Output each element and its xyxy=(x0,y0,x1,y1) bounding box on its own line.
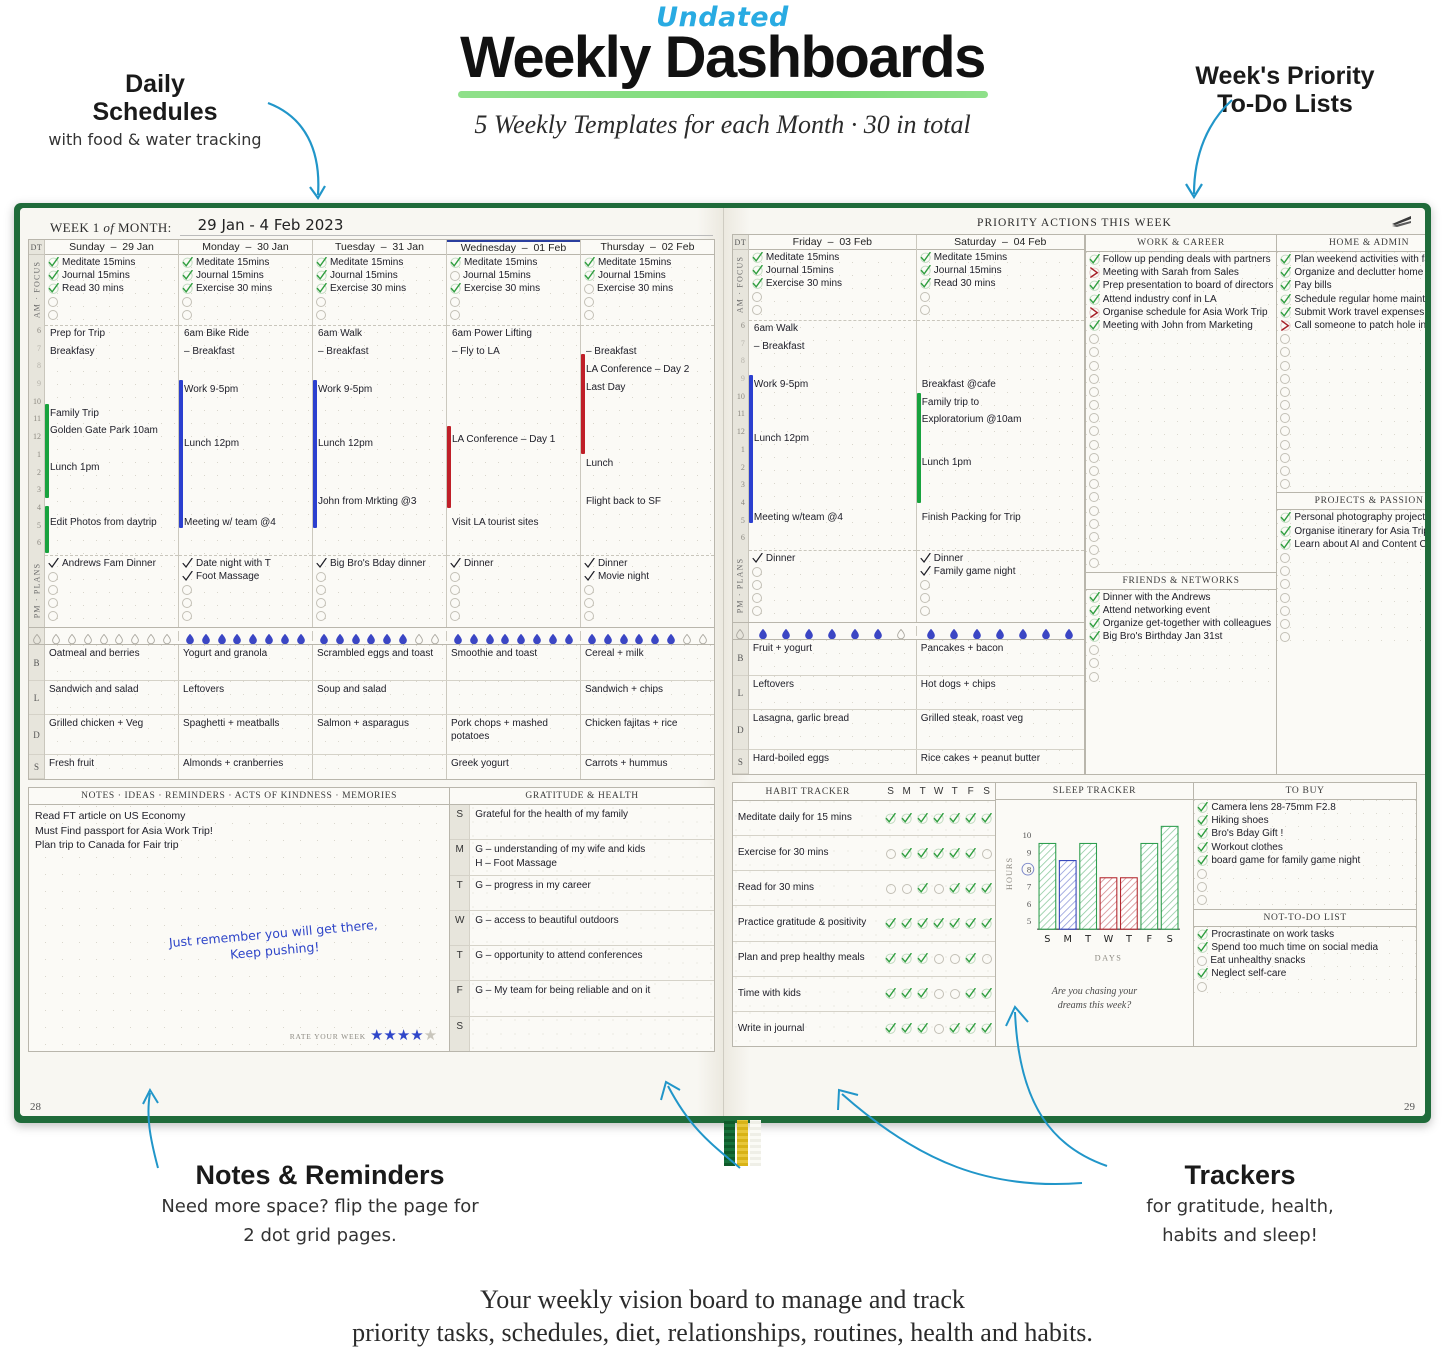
water-drop-icon[interactable] xyxy=(265,631,273,641)
checklist-item[interactable]: Plan weekend activities with family xyxy=(1280,254,1425,267)
habit-name[interactable]: Practice gratitude & positivity xyxy=(733,917,883,930)
empty-checkbox[interactable] xyxy=(1089,334,1099,344)
checklist-item[interactable]: Meeting with Sarah from Sales xyxy=(1089,267,1274,280)
meal-cell[interactable]: Fruit + yogurt xyxy=(749,640,917,675)
checkmark-icon[interactable] xyxy=(752,252,763,263)
checkmark-icon[interactable] xyxy=(450,283,461,294)
day-plan-zone[interactable]: 6am Bike Ride– BreakfastWork 9-5pmLunch … xyxy=(179,325,312,555)
water-drop-icon[interactable] xyxy=(352,631,360,641)
checkmark-icon[interactable] xyxy=(917,883,928,894)
checklist-item[interactable]: Organise schedule for Asia Work Trip xyxy=(1089,307,1274,320)
habit-mark[interactable] xyxy=(883,988,899,999)
note-line[interactable]: Must Find passport for Asia Work Trip! xyxy=(35,824,443,839)
checkmark-icon[interactable] xyxy=(917,918,928,929)
checkmark-icon[interactable] xyxy=(920,566,931,577)
checkmark-icon[interactable] xyxy=(182,270,193,281)
pm-task[interactable] xyxy=(920,605,1082,618)
gratitude-text[interactable]: G – access to beautiful outdoors xyxy=(470,911,714,945)
checkmark-icon[interactable] xyxy=(316,558,327,569)
checklist-item[interactable]: Personal photography project xyxy=(1280,512,1425,525)
focus-task[interactable] xyxy=(450,309,578,322)
habit-mark[interactable] xyxy=(915,953,931,964)
pm-task[interactable] xyxy=(584,584,712,597)
checkmark-icon[interactable] xyxy=(1280,512,1291,523)
focus-task[interactable] xyxy=(48,296,176,309)
checklist-item[interactable]: Dinner with the Andrews xyxy=(1089,592,1274,605)
empty-checkbox[interactable] xyxy=(1089,506,1099,516)
meal-cell[interactable]: Leftovers xyxy=(749,676,917,709)
empty-checkbox[interactable] xyxy=(1280,453,1290,463)
water-cell[interactable] xyxy=(45,631,179,641)
habit-mark[interactable] xyxy=(931,953,947,964)
habit-mark[interactable] xyxy=(979,848,995,859)
habit-mark[interactable] xyxy=(915,1023,931,1034)
pm-task[interactable] xyxy=(450,584,578,597)
meal-cell[interactable]: Scrambled eggs and toast xyxy=(313,645,447,680)
checklist-item[interactable]: Schedule regular home maintenance xyxy=(1280,294,1425,307)
habit-mark[interactable] xyxy=(899,918,915,929)
empty-checkbox[interactable] xyxy=(752,580,762,590)
habit-mark[interactable] xyxy=(963,848,979,859)
checklist-item[interactable]: Procrastinate on work tasks xyxy=(1197,929,1413,942)
checklist-item[interactable] xyxy=(1089,478,1274,491)
pm-task[interactable] xyxy=(316,571,444,584)
empty-checkbox[interactable] xyxy=(982,849,992,859)
checkmark-icon[interactable] xyxy=(752,278,763,289)
water-drop-icon[interactable] xyxy=(782,626,790,636)
focus-task[interactable] xyxy=(920,291,1082,304)
empty-checkbox[interactable] xyxy=(1197,982,1207,992)
water-drop-icon[interactable] xyxy=(874,626,882,636)
empty-checkbox[interactable] xyxy=(1280,426,1290,436)
habit-mark[interactable] xyxy=(899,848,915,859)
checkmark-icon[interactable] xyxy=(981,918,992,929)
checkmark-icon[interactable] xyxy=(1280,254,1291,265)
empty-checkbox[interactable] xyxy=(1089,545,1099,555)
forward-arrow-icon[interactable] xyxy=(1089,267,1100,278)
empty-checkbox[interactable] xyxy=(950,989,960,999)
checklist-item[interactable]: Call someone to patch hole in Roof xyxy=(1280,320,1425,333)
water-drop-icon[interactable] xyxy=(367,631,375,641)
focus-task[interactable]: Meditate 15mins xyxy=(752,252,914,265)
checkmark-icon[interactable] xyxy=(1089,320,1100,331)
habit-mark[interactable] xyxy=(915,988,931,999)
checkmark-icon[interactable] xyxy=(885,988,896,999)
empty-checkbox[interactable] xyxy=(886,884,896,894)
water-drop-icon[interactable] xyxy=(52,631,60,641)
water-drop-icon[interactable] xyxy=(667,631,675,641)
empty-checkbox[interactable] xyxy=(1280,606,1290,616)
focus-task[interactable]: Journal 15mins xyxy=(450,270,578,283)
checklist-item[interactable]: Eat unhealthy snacks xyxy=(1197,955,1413,968)
checkmark-icon[interactable] xyxy=(949,1023,960,1034)
empty-checkbox[interactable] xyxy=(48,297,58,307)
water-cell[interactable] xyxy=(581,631,714,641)
empty-checkbox[interactable] xyxy=(584,310,594,320)
meal-cell[interactable] xyxy=(313,755,447,779)
day-plan-zone[interactable]: – BreakfastLA Conference – Day 2Last Day… xyxy=(581,325,714,555)
focus-task[interactable]: Journal 15mins xyxy=(584,270,712,283)
water-drop-icon[interactable] xyxy=(759,626,767,636)
habit-mark[interactable] xyxy=(979,918,995,929)
checkmark-icon[interactable] xyxy=(48,558,59,569)
meal-cell[interactable]: Hard-boiled eggs xyxy=(749,750,917,774)
empty-checkbox[interactable] xyxy=(450,585,460,595)
empty-checkbox[interactable] xyxy=(1089,466,1099,476)
checkmark-icon[interactable] xyxy=(1089,280,1100,291)
empty-checkbox[interactable] xyxy=(1197,956,1207,966)
checkmark-icon[interactable] xyxy=(981,1023,992,1034)
checkmark-icon[interactable] xyxy=(1280,307,1291,318)
water-drop-icon[interactable] xyxy=(147,631,155,641)
empty-checkbox[interactable] xyxy=(316,572,326,582)
empty-checkbox[interactable] xyxy=(182,598,192,608)
checkmark-icon[interactable] xyxy=(917,988,928,999)
empty-checkbox[interactable] xyxy=(1280,440,1290,450)
pm-task[interactable] xyxy=(752,579,914,592)
habit-mark[interactable] xyxy=(979,1023,995,1034)
habit-mark[interactable] xyxy=(963,1023,979,1034)
gratitude-text[interactable]: G – opportunity to attend conferences xyxy=(470,946,714,980)
pm-task[interactable] xyxy=(450,597,578,610)
habit-mark[interactable] xyxy=(947,988,963,999)
focus-task[interactable]: Journal 15mins xyxy=(316,270,444,283)
pm-task[interactable] xyxy=(48,571,176,584)
water-cell[interactable] xyxy=(313,631,447,641)
bookmark-icon[interactable] xyxy=(1391,215,1413,230)
checklist-item[interactable] xyxy=(1089,439,1274,452)
checklist-item[interactable] xyxy=(1089,412,1274,425)
pm-task[interactable] xyxy=(584,597,712,610)
pm-task[interactable]: Dinner xyxy=(584,558,712,571)
water-drop-icon[interactable] xyxy=(927,626,935,636)
gratitude-row[interactable]: MG – understanding of my wife and kidsH … xyxy=(450,840,714,875)
gratitude-row[interactable]: TG – opportunity to attend conferences xyxy=(450,946,714,981)
checkmark-icon[interactable] xyxy=(965,953,976,964)
checklist-item[interactable]: Pay bills xyxy=(1280,280,1425,293)
focus-task[interactable]: Exercise 30 mins xyxy=(450,283,578,296)
checkmark-icon[interactable] xyxy=(1280,539,1291,550)
checkmark-icon[interactable] xyxy=(316,283,327,294)
empty-checkbox[interactable] xyxy=(182,611,192,621)
empty-checkbox[interactable] xyxy=(584,297,594,307)
gratitude-text[interactable]: G – progress in my career xyxy=(470,876,714,910)
water-drop-icon[interactable] xyxy=(1019,626,1027,636)
meal-cell[interactable]: Sandwich + chips xyxy=(581,681,714,714)
day-plan-zone[interactable]: 6am Power Lifting– Fly to LALA Conferenc… xyxy=(447,325,580,555)
empty-checkbox[interactable] xyxy=(934,1024,944,1034)
empty-checkbox[interactable] xyxy=(920,292,930,302)
checkmark-icon[interactable] xyxy=(949,848,960,859)
empty-checkbox[interactable] xyxy=(584,284,594,294)
day-plan-zone[interactable]: Prep for TripBreakfasyFamily TripGolden … xyxy=(45,325,178,555)
water-cell[interactable] xyxy=(447,631,581,641)
empty-checkbox[interactable] xyxy=(450,310,460,320)
checklist-item[interactable]: Neglect self-care xyxy=(1197,968,1413,981)
checkmark-icon[interactable] xyxy=(1197,842,1208,853)
focus-task[interactable] xyxy=(752,291,914,304)
water-drop-icon[interactable] xyxy=(249,631,257,641)
water-drop-icon[interactable] xyxy=(233,631,241,641)
water-drop-icon[interactable] xyxy=(336,631,344,641)
pm-task[interactable] xyxy=(316,610,444,623)
checkmark-icon[interactable] xyxy=(917,1023,928,1034)
empty-checkbox[interactable] xyxy=(316,310,326,320)
gratitude-row[interactable]: FG – My team for being reliable and on i… xyxy=(450,981,714,1016)
checkmark-icon[interactable] xyxy=(901,953,912,964)
habit-mark[interactable] xyxy=(915,883,931,894)
empty-checkbox[interactable] xyxy=(316,585,326,595)
checkmark-icon[interactable] xyxy=(316,257,327,268)
checkmark-icon[interactable] xyxy=(1197,855,1208,866)
checklist-item[interactable] xyxy=(1280,360,1425,373)
meal-cell[interactable]: Sandwich and salad xyxy=(45,681,179,714)
meal-cell[interactable]: Almonds + cranberries xyxy=(179,755,313,779)
habit-mark[interactable] xyxy=(899,1023,915,1034)
meal-cell[interactable]: Greek yogurt xyxy=(447,755,581,779)
focus-task[interactable]: Meditate 15mins xyxy=(182,257,310,270)
focus-task[interactable] xyxy=(450,296,578,309)
empty-checkbox[interactable] xyxy=(752,292,762,302)
habit-mark[interactable] xyxy=(899,953,915,964)
pm-task[interactable]: Family game night xyxy=(920,566,1082,579)
checkmark-icon[interactable] xyxy=(901,848,912,859)
checkmark-icon[interactable] xyxy=(752,265,763,276)
focus-task[interactable] xyxy=(182,296,310,309)
checkmark-icon[interactable] xyxy=(949,813,960,824)
checkmark-icon[interactable] xyxy=(965,883,976,894)
habit-mark[interactable] xyxy=(915,813,931,824)
checkmark-icon[interactable] xyxy=(1280,294,1291,305)
meal-cell[interactable]: Grilled chicken + Veg xyxy=(45,715,179,754)
checklist-item[interactable]: Organize and declutter home office xyxy=(1280,267,1425,280)
meal-cell[interactable]: Salmon + asparagus xyxy=(313,715,447,754)
checkmark-icon[interactable] xyxy=(901,1023,912,1034)
checklist-item[interactable] xyxy=(1280,425,1425,438)
water-drop-icon[interactable] xyxy=(281,631,289,641)
gratitude-row[interactable]: SGrateful for the health of my family xyxy=(450,805,714,840)
empty-checkbox[interactable] xyxy=(1280,466,1290,476)
checkmark-icon[interactable] xyxy=(584,257,595,268)
pm-task[interactable]: Date night with T xyxy=(182,558,310,571)
water-drop-icon[interactable] xyxy=(620,631,628,641)
focus-task[interactable]: Meditate 15mins xyxy=(48,257,176,270)
checkmark-icon[interactable] xyxy=(1089,631,1100,642)
empty-checkbox[interactable] xyxy=(182,310,192,320)
checkmark-icon[interactable] xyxy=(1197,828,1208,839)
meal-cell[interactable]: Fresh fruit xyxy=(45,755,179,779)
empty-checkbox[interactable] xyxy=(934,989,944,999)
rate-your-week[interactable]: RATE YOUR WEEK ★★★★★ xyxy=(290,1027,437,1045)
focus-task[interactable]: Journal 15mins xyxy=(182,270,310,283)
checkmark-icon[interactable] xyxy=(182,558,193,569)
checkmark-icon[interactable] xyxy=(48,283,59,294)
habit-name[interactable]: Meditate daily for 15 mins xyxy=(733,812,883,825)
checkmark-icon[interactable] xyxy=(933,813,944,824)
checklist-item[interactable] xyxy=(1089,644,1274,657)
checkmark-icon[interactable] xyxy=(1280,280,1291,291)
habit-mark[interactable] xyxy=(963,918,979,929)
water-drop-icon[interactable] xyxy=(533,631,541,641)
empty-checkbox[interactable] xyxy=(920,580,930,590)
checkmark-icon[interactable] xyxy=(917,848,928,859)
meal-cell[interactable]: Soup and salad xyxy=(313,681,447,714)
empty-checkbox[interactable] xyxy=(450,271,460,281)
checkmark-icon[interactable] xyxy=(1197,968,1208,979)
focus-task[interactable] xyxy=(316,309,444,322)
empty-checkbox[interactable] xyxy=(752,606,762,616)
checklist-item[interactable] xyxy=(1089,544,1274,557)
empty-checkbox[interactable] xyxy=(1280,579,1290,589)
empty-checkbox[interactable] xyxy=(1280,479,1290,489)
water-drop-icon[interactable] xyxy=(897,626,905,636)
pm-task[interactable] xyxy=(752,566,914,579)
empty-checkbox[interactable] xyxy=(982,954,992,964)
habit-name[interactable]: Read for 30 mins xyxy=(733,882,883,895)
pm-task[interactable] xyxy=(920,579,1082,592)
empty-checkbox[interactable] xyxy=(1089,658,1099,668)
checkmark-icon[interactable] xyxy=(920,553,931,564)
empty-checkbox[interactable] xyxy=(48,572,58,582)
empty-checkbox[interactable] xyxy=(1280,553,1290,563)
empty-checkbox[interactable] xyxy=(752,567,762,577)
focus-task[interactable]: Meditate 15mins xyxy=(584,257,712,270)
checklist-item[interactable] xyxy=(1089,386,1274,399)
empty-checkbox[interactable] xyxy=(316,598,326,608)
meal-cell[interactable]: Oatmeal and berries xyxy=(45,645,179,680)
habit-mark[interactable] xyxy=(963,813,979,824)
checklist-item[interactable]: Big Bro's Birthday Jan 31st xyxy=(1089,631,1274,644)
meal-cell[interactable]: Grilled steak, roast veg xyxy=(917,710,1084,749)
empty-checkbox[interactable] xyxy=(316,611,326,621)
checkmark-icon[interactable] xyxy=(1089,294,1100,305)
water-drop-icon[interactable] xyxy=(320,631,328,641)
gratitude-row[interactable]: WG – access to beautiful outdoors xyxy=(450,911,714,946)
checklist-item[interactable]: Learn about AI and Content Creation xyxy=(1280,539,1425,552)
water-drop-icon[interactable] xyxy=(115,631,123,641)
checklist-item[interactable]: Organize get-together with colleagues xyxy=(1089,618,1274,631)
checklist-item[interactable] xyxy=(1280,478,1425,491)
forward-arrow-icon[interactable] xyxy=(1089,307,1100,318)
checkmark-icon[interactable] xyxy=(48,270,59,281)
pm-task[interactable] xyxy=(48,597,176,610)
meal-cell[interactable]: Cereal + milk xyxy=(581,645,714,680)
empty-checkbox[interactable] xyxy=(1089,492,1099,502)
habit-mark[interactable] xyxy=(947,848,963,859)
habit-mark[interactable] xyxy=(883,918,899,929)
pm-task[interactable]: Big Bro's Bday dinner xyxy=(316,558,444,571)
checklist-item[interactable] xyxy=(1280,565,1425,578)
pm-task[interactable] xyxy=(450,571,578,584)
pm-task[interactable] xyxy=(752,605,914,618)
empty-checkbox[interactable] xyxy=(48,585,58,595)
checklist-item[interactable] xyxy=(1089,373,1274,386)
empty-checkbox[interactable] xyxy=(1089,519,1099,529)
meal-cell[interactable]: Hot dogs + chips xyxy=(917,676,1084,709)
checklist-item[interactable]: Camera lens 28-75mm F2.8 xyxy=(1197,802,1413,815)
empty-checkbox[interactable] xyxy=(1280,619,1290,629)
checklist-item[interactable] xyxy=(1280,631,1425,644)
empty-checkbox[interactable] xyxy=(450,572,460,582)
empty-checkbox[interactable] xyxy=(1089,426,1099,436)
star-icon[interactable]: ★ xyxy=(397,1027,410,1044)
checklist-item[interactable] xyxy=(1280,578,1425,591)
star-icon[interactable]: ★ xyxy=(410,1027,423,1044)
habit-mark[interactable] xyxy=(979,988,995,999)
water-drop-icon[interactable] xyxy=(415,631,423,641)
checklist-item[interactable]: Spend too much time on social media xyxy=(1197,942,1413,955)
water-drop-icon[interactable] xyxy=(131,631,139,641)
habit-mark[interactable] xyxy=(883,953,899,964)
habit-mark[interactable] xyxy=(979,883,995,894)
habit-mark[interactable] xyxy=(947,1023,963,1034)
rating-stars[interactable]: ★★★★★ xyxy=(370,1027,437,1045)
checklist-item[interactable] xyxy=(1280,439,1425,452)
checkmark-icon[interactable] xyxy=(917,813,928,824)
meal-cell[interactable]: Carrots + hummus xyxy=(581,755,714,779)
habit-mark[interactable] xyxy=(883,813,899,824)
habit-mark[interactable] xyxy=(899,813,915,824)
habit-mark[interactable] xyxy=(963,988,979,999)
checklist-item[interactable] xyxy=(1089,518,1274,531)
empty-checkbox[interactable] xyxy=(1089,672,1099,682)
water-drop-icon[interactable] xyxy=(973,626,981,636)
pm-task[interactable] xyxy=(182,584,310,597)
water-cell[interactable] xyxy=(179,631,313,641)
habit-mark[interactable] xyxy=(931,813,947,824)
water-drop-icon[interactable] xyxy=(501,631,509,641)
checklist-item[interactable] xyxy=(1089,465,1274,478)
checklist-item[interactable] xyxy=(1089,531,1274,544)
water-drop-icon[interactable] xyxy=(84,631,92,641)
checkmark-icon[interactable] xyxy=(450,558,461,569)
water-drop-icon[interactable] xyxy=(565,631,573,641)
focus-task[interactable]: Read 30 mins xyxy=(48,283,176,296)
star-icon[interactable]: ★ xyxy=(383,1027,396,1044)
checkmark-icon[interactable] xyxy=(917,953,928,964)
water-drop-icon[interactable] xyxy=(517,631,525,641)
checkmark-icon[interactable] xyxy=(920,265,931,276)
empty-checkbox[interactable] xyxy=(1280,374,1290,384)
checkmark-icon[interactable] xyxy=(933,918,944,929)
focus-task[interactable]: Meditate 15mins xyxy=(316,257,444,270)
star-icon[interactable]: ★ xyxy=(370,1027,383,1044)
empty-checkbox[interactable] xyxy=(1089,400,1099,410)
checklist-item[interactable]: Organise itinerary for Asia Trip xyxy=(1280,526,1425,539)
habit-mark[interactable] xyxy=(883,1023,899,1034)
empty-checkbox[interactable] xyxy=(1089,347,1099,357)
focus-task[interactable] xyxy=(584,309,712,322)
focus-task[interactable] xyxy=(316,296,444,309)
water-drop-icon[interactable] xyxy=(163,631,171,641)
water-drop-icon[interactable] xyxy=(1042,626,1050,636)
water-drop-icon[interactable] xyxy=(588,631,596,641)
focus-task[interactable]: Exercise 30 mins xyxy=(752,278,914,291)
habit-mark[interactable] xyxy=(931,918,947,929)
checklist-item[interactable]: Meeting with John from Marketing xyxy=(1089,320,1274,333)
pm-task[interactable] xyxy=(182,597,310,610)
pm-task[interactable]: Dinner xyxy=(920,553,1082,566)
empty-checkbox[interactable] xyxy=(182,585,192,595)
checklist-item[interactable]: Attend industry conf in LA xyxy=(1089,294,1274,307)
water-cell[interactable] xyxy=(917,626,1084,636)
checkmark-icon[interactable] xyxy=(965,1023,976,1034)
empty-checkbox[interactable] xyxy=(752,305,762,315)
empty-checkbox[interactable] xyxy=(1089,558,1099,568)
checklist-item[interactable] xyxy=(1089,360,1274,373)
checkmark-icon[interactable] xyxy=(1280,267,1291,278)
habit-mark[interactable] xyxy=(979,813,995,824)
